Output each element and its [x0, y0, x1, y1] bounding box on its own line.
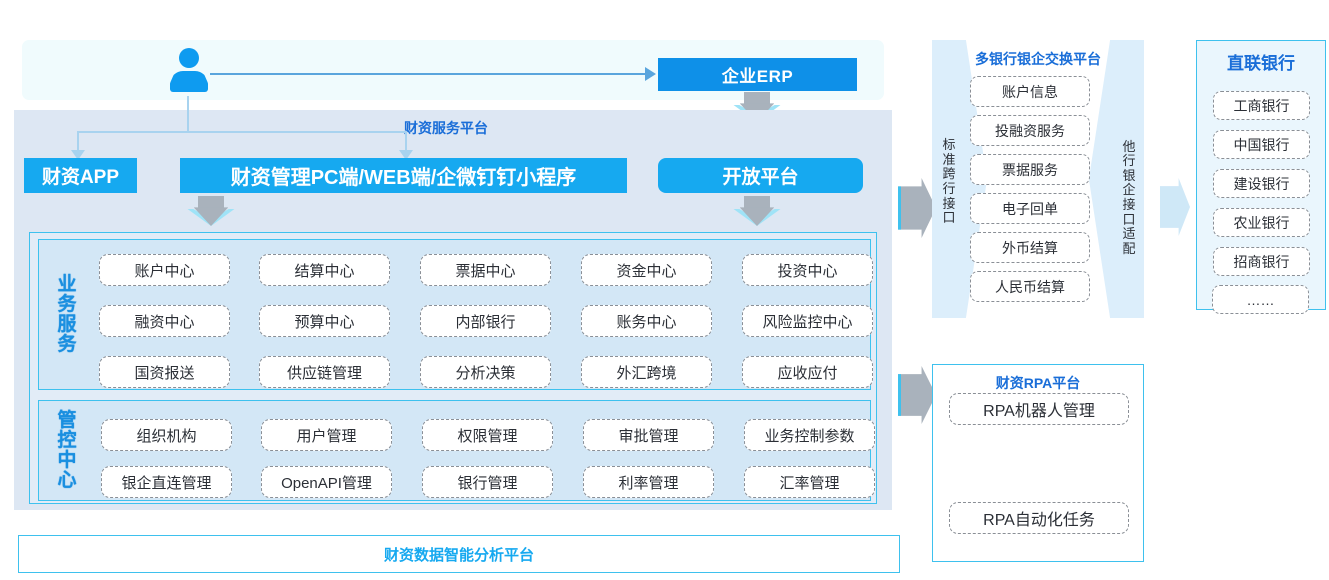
multibank-title: 多银行银企交换平台	[932, 49, 1144, 69]
rpa-cell[interactable]: RPA机器人管理	[949, 393, 1129, 425]
control-cell[interactable]: 权限管理	[422, 419, 553, 451]
business-cell[interactable]: 内部银行	[420, 305, 551, 337]
direct-bank-cell[interactable]: 招商银行	[1213, 247, 1310, 276]
person-body-icon	[170, 71, 208, 92]
control-cell[interactable]: 业务控制参数	[744, 419, 875, 451]
connector-trunk	[187, 96, 189, 132]
business-cell[interactable]: 风险监控中心	[742, 305, 873, 337]
arrow-down-icon-services	[187, 196, 235, 226]
control-cell[interactable]: 汇率管理	[744, 466, 875, 498]
control-cell[interactable]: 银行管理	[422, 466, 553, 498]
business-cell[interactable]: 账户中心	[99, 254, 230, 286]
control-cell[interactable]: OpenAPI管理	[261, 466, 392, 498]
connector-branch-mid	[405, 131, 407, 151]
rpa-platform-panel: 财资RPA平台 RPA机器人管理 RPA自动化任务	[932, 364, 1144, 562]
rpa-title: 财资RPA平台	[933, 373, 1143, 393]
direct-bank-title: 直联银行	[1197, 49, 1325, 74]
business-cell[interactable]: 外汇跨境	[581, 356, 712, 388]
business-cell[interactable]: 应收应付	[742, 356, 873, 388]
multibank-cell[interactable]: 人民币结算	[970, 271, 1090, 302]
arrow-right-icon	[645, 67, 656, 81]
direct-bank-panel: 直联银行 工商银行 中国银行 建设银行 农业银行 招商银行	[1196, 40, 1326, 310]
business-cell[interactable]: 国资报送	[99, 356, 230, 388]
control-cell[interactable]: 用户管理	[261, 419, 392, 451]
direct-bank-cell-more[interactable]: ……	[1212, 285, 1309, 314]
business-cell[interactable]: 资金中心	[581, 254, 712, 286]
architecture-diagram: 企业ERP 财资服务平台 财资APP 财资管理PC端/WEB端/企微钉钉小程序 …	[0, 0, 1329, 580]
standard-interbank-interface-label: 标 准 跨 行 接 口	[938, 102, 960, 262]
multibank-cell[interactable]: 电子回单	[970, 193, 1090, 224]
data-analysis-platform-bar: 财资数据智能分析平台	[18, 535, 900, 573]
business-services-label: 业 务 服 务	[48, 250, 86, 380]
control-center-label: 管 控 中 心	[48, 408, 86, 494]
other-bank-interface-adapt-label: 他 行 银 企 接 口 适 配	[1118, 98, 1140, 298]
connector-branch-bar	[77, 131, 407, 133]
arrow-down-icon-open	[733, 196, 781, 226]
multibank-cell[interactable]: 外币结算	[970, 232, 1090, 263]
business-cell[interactable]: 结算中心	[259, 254, 390, 286]
open-platform-button[interactable]: 开放平台	[658, 158, 863, 193]
person-head-icon	[179, 48, 199, 68]
business-cell[interactable]: 投资中心	[742, 254, 873, 286]
control-cell[interactable]: 审批管理	[583, 419, 714, 451]
business-cell[interactable]: 供应链管理	[259, 356, 390, 388]
data-analysis-platform-label: 财资数据智能分析平台	[384, 544, 534, 565]
business-cell[interactable]: 分析决策	[420, 356, 551, 388]
direct-bank-cell[interactable]: 工商银行	[1213, 91, 1310, 120]
multibank-cell[interactable]: 投融资服务	[970, 115, 1090, 146]
control-cell[interactable]: 银企直连管理	[101, 466, 232, 498]
direct-bank-cell[interactable]: 农业银行	[1213, 208, 1310, 237]
business-cell[interactable]: 账务中心	[581, 305, 712, 337]
treasury-app-button[interactable]: 财资APP	[24, 158, 137, 193]
treasury-pc-web-button[interactable]: 财资管理PC端/WEB端/企微钉钉小程序	[180, 158, 627, 193]
control-cell[interactable]: 组织机构	[101, 419, 232, 451]
connector-user-to-erp	[210, 73, 650, 75]
erp-button[interactable]: 企业ERP	[658, 58, 857, 91]
rpa-cell[interactable]: RPA自动化任务	[949, 502, 1129, 534]
multibank-cell[interactable]: 账户信息	[970, 76, 1090, 107]
multibank-exchange-panel: 多银行银企交换平台 标 准 跨 行 接 口 他 行 银 企 接 口 适 配 账户…	[932, 40, 1144, 318]
multibank-cell[interactable]: 票据服务	[970, 154, 1090, 185]
business-cell[interactable]: 预算中心	[259, 305, 390, 337]
connector-branch-left	[77, 131, 79, 151]
platform-title: 财资服务平台	[404, 118, 488, 138]
arrow-right-icon-to-multibank	[898, 178, 936, 238]
arrow-right-icon-to-direct-bank	[1160, 178, 1190, 236]
direct-bank-cell[interactable]: 中国银行	[1213, 130, 1310, 159]
direct-bank-cell[interactable]: 建设银行	[1213, 169, 1310, 198]
business-cell[interactable]: 融资中心	[99, 305, 230, 337]
business-cell[interactable]: 票据中心	[420, 254, 551, 286]
arrow-right-icon-to-rpa	[898, 366, 936, 424]
person-icon	[168, 48, 210, 94]
control-cell[interactable]: 利率管理	[583, 466, 714, 498]
